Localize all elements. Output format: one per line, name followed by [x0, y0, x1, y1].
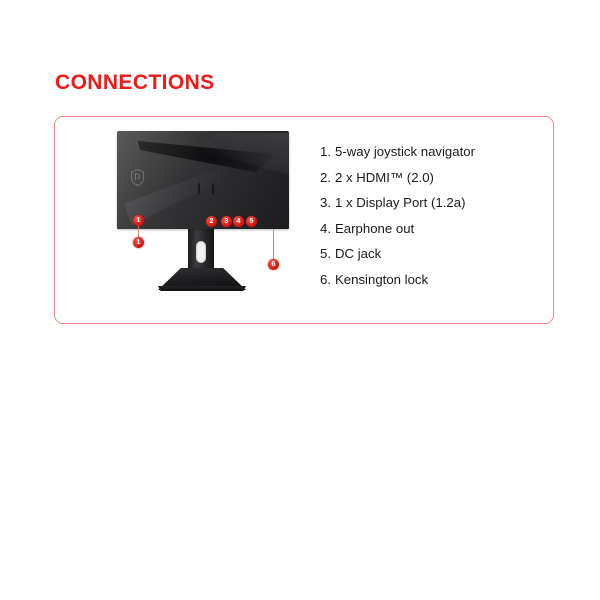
list-item-label: 5-way joystick navigator [335, 145, 540, 158]
list-item-number: 3. [320, 196, 335, 209]
callout-marker-2[interactable]: 2 [206, 216, 217, 227]
monitor-rear-view-figure: 1 1 2 3 4 5 6 [107, 131, 297, 309]
list-item-label: DC jack [335, 247, 540, 260]
callout-leader-line-6 [273, 229, 274, 261]
callout-marker-3[interactable]: 3 [221, 216, 232, 227]
list-item-label: Kensington lock [335, 273, 540, 286]
panel-vent-slot [212, 183, 214, 194]
list-item-number: 1. [320, 145, 335, 158]
list-item-label: 1 x Display Port (1.2a) [335, 196, 540, 209]
callout-marker-1-end[interactable]: 1 [133, 237, 144, 248]
list-item: 6. Kensington lock [320, 273, 540, 286]
list-item-number: 6. [320, 273, 335, 286]
list-item-number: 5. [320, 247, 335, 260]
list-item-label: 2 x HDMI™ (2.0) [335, 171, 540, 184]
list-item: 5. DC jack [320, 247, 540, 260]
list-item: 4. Earphone out [320, 222, 540, 235]
monitor-back-panel [117, 131, 289, 229]
connections-card: 1 1 2 3 4 5 6 1. 5-way joystick navigato… [54, 116, 554, 324]
connections-feature-list: 1. 5-way joystick navigator 2. 2 x HDMI™… [320, 145, 540, 298]
list-item: 2. 2 x HDMI™ (2.0) [320, 171, 540, 184]
page-title: CONNECTIONS [55, 70, 215, 95]
callout-marker-6[interactable]: 6 [268, 259, 279, 270]
callout-marker-4[interactable]: 4 [233, 216, 244, 227]
list-item: 3. 1 x Display Port (1.2a) [320, 196, 540, 209]
callout-marker-5[interactable]: 5 [246, 216, 257, 227]
list-item: 1. 5-way joystick navigator [320, 145, 540, 158]
callout-marker-1[interactable]: 1 [133, 215, 144, 226]
list-item-label: Earphone out [335, 222, 540, 235]
list-item-number: 4. [320, 222, 335, 235]
cable-routing-hole [196, 241, 206, 263]
msi-dragon-shield-icon [130, 169, 145, 186]
monitor-stand-base-edge [158, 286, 246, 291]
panel-vent-slot [198, 183, 200, 194]
list-item-number: 2. [320, 171, 335, 184]
